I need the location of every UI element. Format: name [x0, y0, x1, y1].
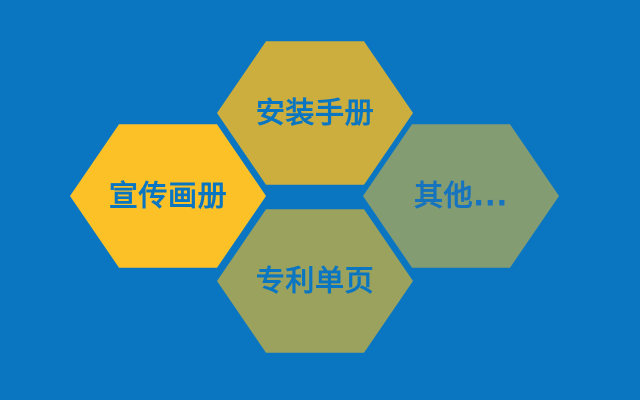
hexagon-top[interactable] [217, 41, 413, 184]
hexagon-diagram-canvas: 宣传画册安装手册专利单页其他... [0, 0, 640, 400]
hexagon-shapes-layer [0, 0, 640, 400]
hexagon-left[interactable] [70, 124, 266, 267]
hexagon-right[interactable] [363, 124, 559, 267]
hexagon-bottom[interactable] [217, 209, 413, 352]
